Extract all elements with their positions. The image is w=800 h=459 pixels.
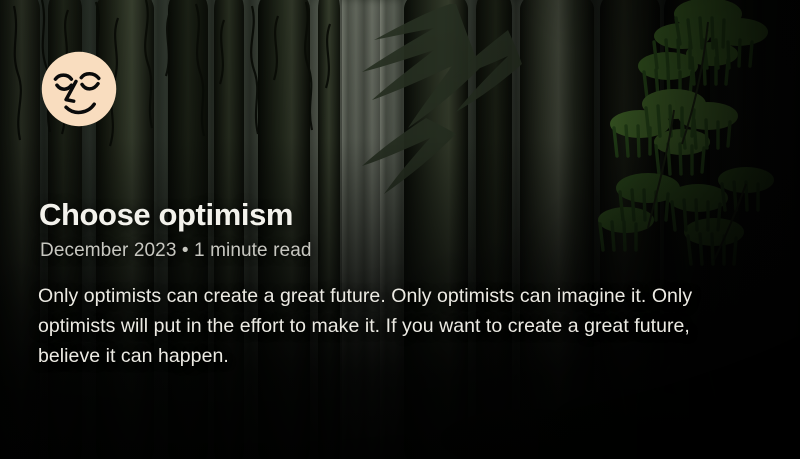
read-time: 1 minute read bbox=[194, 240, 311, 261]
article-excerpt: Only optimists can create a great future… bbox=[38, 281, 714, 371]
card-content: Choose optimism December 2023 • 1 minute… bbox=[0, 199, 800, 459]
meta-separator: • bbox=[182, 240, 189, 261]
avatar-circle bbox=[42, 52, 116, 126]
article-meta: December 2023 • 1 minute read bbox=[40, 240, 760, 262]
page-title: Choose optimism bbox=[39, 199, 760, 232]
smiling-face-avatar[interactable] bbox=[41, 51, 117, 127]
publish-date: December 2023 bbox=[40, 240, 177, 261]
article-card[interactable]: Choose optimism December 2023 • 1 minute… bbox=[0, 0, 800, 459]
